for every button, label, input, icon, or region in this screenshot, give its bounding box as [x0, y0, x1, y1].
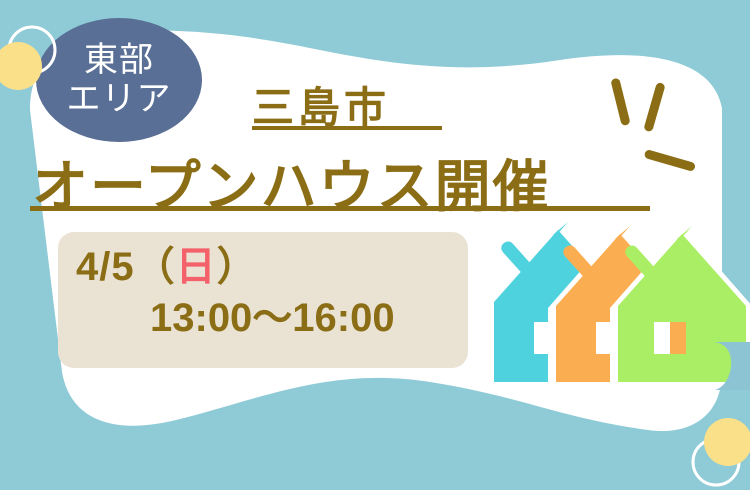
house-green-window-right [670, 322, 686, 354]
poster-canvas: 東部 エリア 三島市 オープンハウス開催 4/5（日） 13:00〜16:00 [0, 0, 750, 490]
event-date-close: ） [217, 245, 258, 289]
city-name-underline [252, 126, 442, 130]
bottom-right-ornament [684, 412, 750, 490]
top-left-ornament [0, 22, 66, 102]
event-date: 4/5（日） [76, 244, 450, 291]
area-badge-line-1: 東部 [84, 41, 154, 80]
event-time: 13:00〜16:00 [76, 295, 450, 342]
sparkle-stroke-right [644, 149, 696, 172]
page-title-underline [30, 206, 650, 211]
event-datetime-panel: 4/5（日） 13:00〜16:00 [58, 232, 468, 368]
sparkle-group [610, 78, 696, 172]
sparkle-stroke-middle [643, 82, 665, 133]
yellow-circle-icon [704, 418, 750, 466]
sparkle-stroke-left [610, 78, 630, 127]
area-badge-line-2: エリア [67, 80, 172, 119]
three-houses-icon [486, 210, 750, 390]
yellow-circle-icon [0, 42, 42, 90]
house-green-window-left [654, 322, 670, 354]
event-weekday: 日 [176, 245, 217, 289]
sparkle-strokes-icon [600, 72, 710, 182]
event-date-text: 4/5（ [76, 245, 176, 289]
house-green [610, 226, 750, 388]
